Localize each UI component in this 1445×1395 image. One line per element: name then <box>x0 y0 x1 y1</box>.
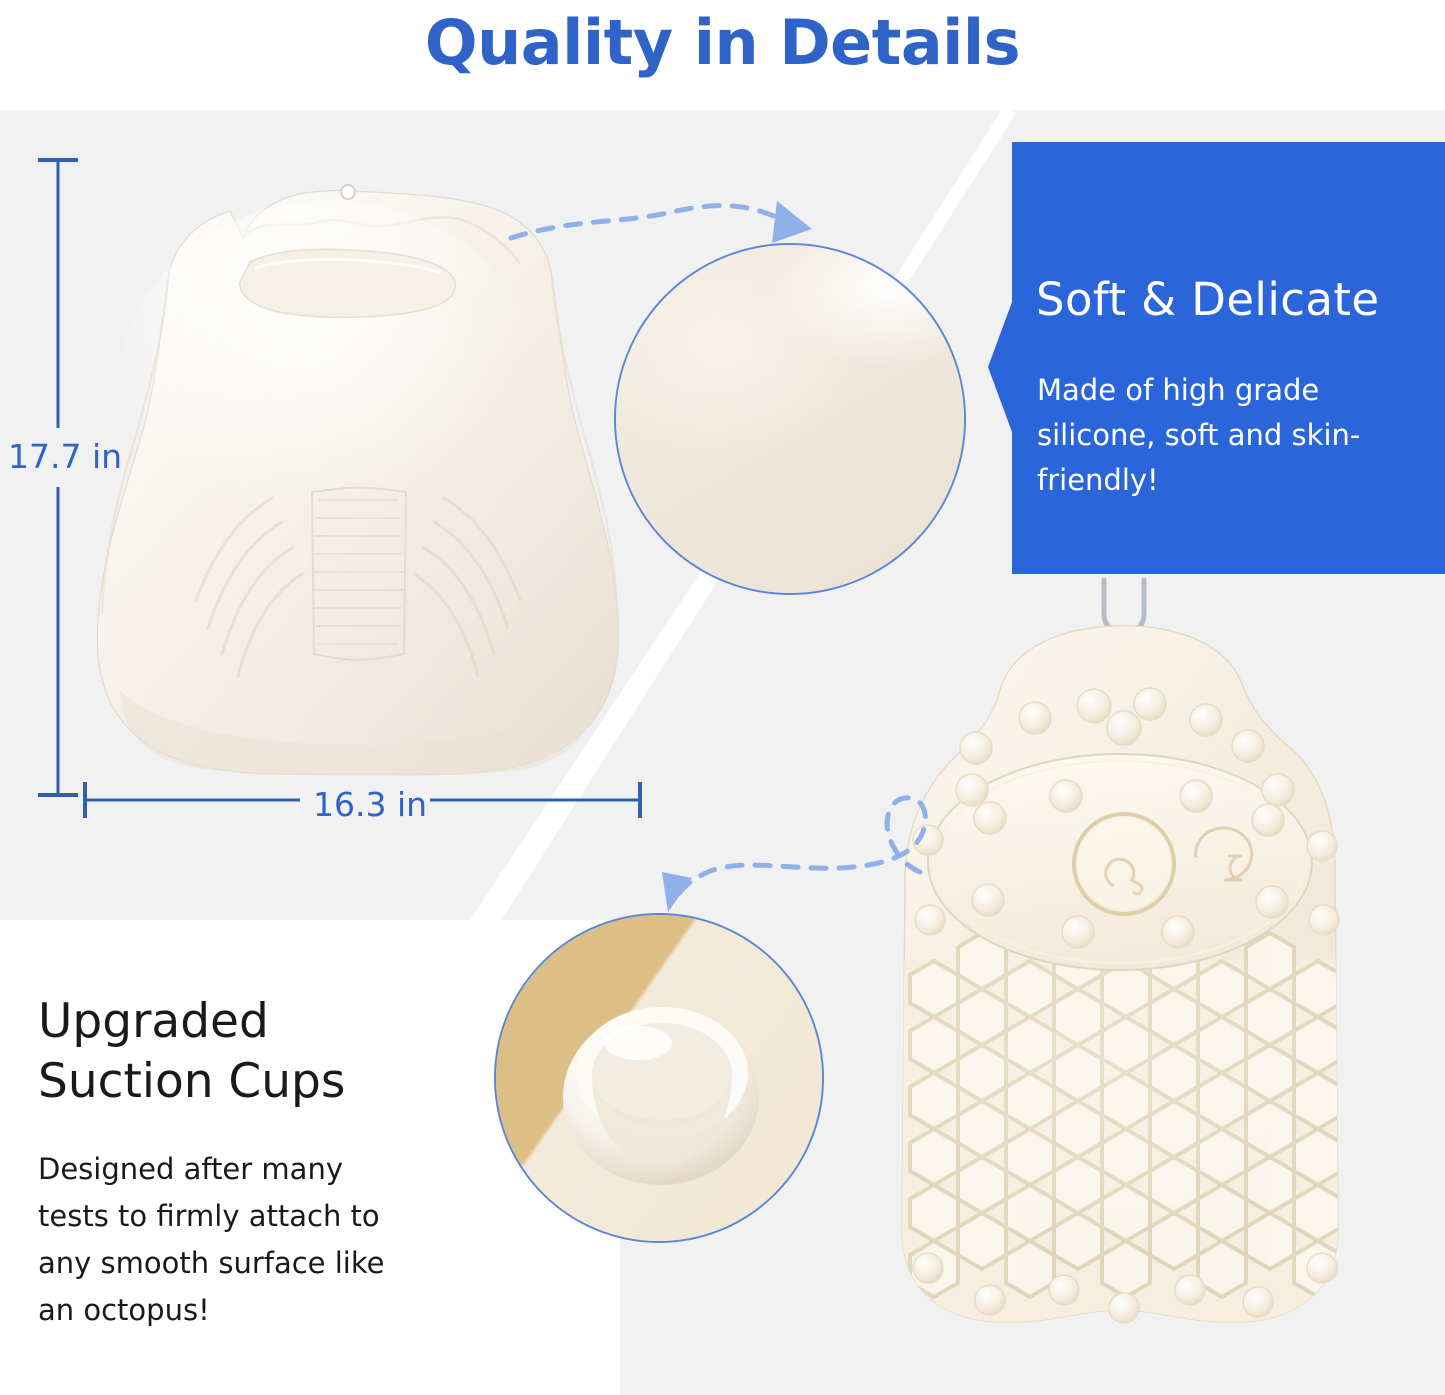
infographic-page: 17.7 in 16.3 in Soft & Delicate Made of … <box>0 0 1445 1395</box>
feature-body-soft-delicate: Made of high grade silicone, soft and sk… <box>1037 368 1367 503</box>
zoom-detail-suction-cup <box>494 913 824 1243</box>
feature-callout-box <box>988 142 1445 574</box>
feature-body-upgraded-suction-cups: Designed after many tests to firmly atta… <box>38 1146 408 1334</box>
dimension-width-label: 16.3 in <box>313 785 427 824</box>
zoom-detail-soft-surface <box>614 243 966 595</box>
page-title: Quality in Details <box>0 6 1445 79</box>
dimension-height-label: 17.7 in <box>8 437 122 476</box>
feature-heading-upgraded-suction-cups: Upgraded Suction Cups <box>38 992 458 1112</box>
feature-heading-soft-delicate: Soft & Delicate <box>1036 273 1379 326</box>
